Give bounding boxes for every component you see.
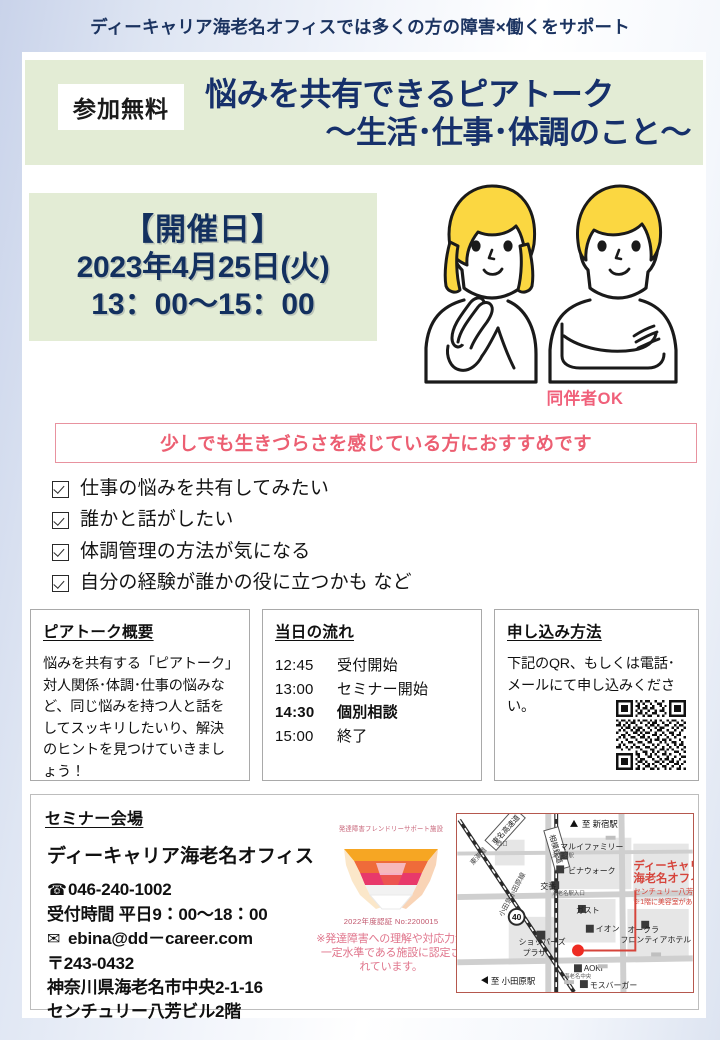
svg-text:イオン: イオン xyxy=(596,925,620,934)
svg-text:交番: 交番 xyxy=(540,881,556,891)
checklist: 仕事の悩みを共有してみたい 誰かと話がしたい 体調管理の方法が気になる 自分の経… xyxy=(52,476,672,602)
checklist-item-label: 誰かと話がしたい xyxy=(80,507,234,534)
svg-text:モスバーガー: モスバーガー xyxy=(590,980,638,990)
certification-note: ※発達障害への理解や対応力が一定水準である施設に認定されています。 xyxy=(316,932,466,974)
schedule-label: 個別相談 xyxy=(337,701,469,725)
venue-contact-block: ☎046-240-1002 受付時間 平日9：00～18：00 ✉ebina@d… xyxy=(47,878,347,1024)
certification-logo-icon xyxy=(336,835,446,915)
certification-heading: 発達障害フレンドリーサポート施設 xyxy=(319,823,463,833)
main-card: 参加無料 悩みを共有できるピアトーク ～生活･仕事･体調のこと～ 【開催日】 2… xyxy=(22,52,706,1018)
checkbox-checked-icon xyxy=(52,512,69,529)
certification-number: 2022年度認証 No:2200015 xyxy=(316,916,466,927)
date-value: 2023年4月25日(火) xyxy=(77,249,330,286)
info-box-schedule: 当日の流れ 12:45 受付開始 13:00 セミナー開始 14:30 個別相談… xyxy=(262,609,482,781)
info-box-row: ピアトーク概要 悩みを共有する「ピアトーク」対人関係･体調･仕事の悩みなど、同じ… xyxy=(22,609,706,784)
checklist-item: 仕事の悩みを共有してみたい xyxy=(52,476,672,503)
svg-text:40: 40 xyxy=(512,912,522,922)
checklist-item-label: 自分の経験が誰かの役に立つかも など xyxy=(80,570,412,597)
schedule-row: 12:45 受付開始 xyxy=(275,654,469,678)
people-illustration xyxy=(412,170,682,385)
venue-hours: 受付時間 平日9：00～18：00 xyxy=(47,903,347,927)
schedule-label: 受付開始 xyxy=(337,654,469,678)
checklist-item: 自分の経験が誰かの役に立つかも など xyxy=(52,570,672,597)
venue-address-line-1: 神奈川県海老名市中央2-1-16 xyxy=(47,976,347,1000)
recommend-banner: 少しでも生きづらさを感じている方におすすめです xyxy=(55,423,697,463)
title-band: 参加無料 悩みを共有できるピアトーク ～生活･仕事･体調のこと～ xyxy=(25,60,703,165)
svg-text:ビナウォーク: ビナウォーク xyxy=(568,866,615,875)
overview-body: 悩みを共有する「ピアトーク」対人関係･体調･仕事の悩みなど、同じ悩みを持つ人と話… xyxy=(43,654,237,783)
title-block: 悩みを共有できるピアトーク ～生活･仕事･体調のこと～ xyxy=(205,74,695,151)
title-line-2: ～生活･仕事･体調のこと～ xyxy=(205,114,695,151)
info-box-overview: ピアトーク概要 悩みを共有する「ピアトーク」対人関係･体調･仕事の悩みなど、同じ… xyxy=(30,609,250,781)
overview-title: ピアトーク概要 xyxy=(43,620,237,642)
schedule-time: 12:45 xyxy=(275,654,337,678)
svg-text:プラザ: プラザ xyxy=(523,948,547,957)
svg-text:海老名駅入口: 海老名駅入口 xyxy=(552,889,585,897)
flyer-page: ディーキャリア海老名オフィスでは多くの方の障害×働くをサポート 参加無料 悩みを… xyxy=(0,0,720,1040)
companion-ok-caption: 同伴者OK xyxy=(490,385,680,409)
venue-office-name: ディーキャリア海老名オフィス xyxy=(47,841,314,868)
certification-block: 発達障害フレンドリーサポート施設 2022年度認証 No:2200015 ※発達… xyxy=(316,823,466,1008)
svg-text:オークラ: オークラ xyxy=(627,926,659,935)
schedule-title: 当日の流れ xyxy=(275,620,469,642)
checklist-item-label: 体調管理の方法が気になる xyxy=(80,539,310,566)
svg-text:海老名駅: 海老名駅 xyxy=(552,852,574,860)
free-badge-label: 参加無料 xyxy=(73,90,169,124)
envelope-icon: ✉ xyxy=(47,929,68,952)
schedule-row: 13:00 セミナー開始 xyxy=(275,678,469,702)
svg-text:※1階に美容室があるビル: ※1階に美容室があるビル xyxy=(633,897,693,906)
schedule-label: 終了 xyxy=(337,725,469,749)
checkbox-checked-icon xyxy=(52,575,69,592)
time-value: 13：00～15：00 xyxy=(91,286,314,323)
svg-text:海老名オフィス: 海老名オフィス xyxy=(633,871,693,885)
svg-text:西口: 西口 xyxy=(497,841,508,848)
venue-email: ebina@dd－career.com xyxy=(68,929,253,948)
schedule-row: 15:00 終了 xyxy=(275,725,469,749)
venue-box: セミナー会場 ディーキャリア海老名オフィス ☎046-240-1002 受付時間… xyxy=(30,794,699,1010)
schedule-time: 14:30 xyxy=(275,701,337,725)
header-tagline: ディーキャリア海老名オフィスでは多くの方の障害×働くをサポート xyxy=(90,14,630,39)
title-line-1: 悩みを共有できるピアトーク xyxy=(205,74,695,114)
telephone-icon: ☎ xyxy=(47,880,68,903)
schedule-time: 15:00 xyxy=(275,725,337,749)
svg-text:マルイファミリー: マルイファミリー xyxy=(560,843,623,852)
svg-text:ディーキャリア: ディーキャリア xyxy=(633,858,693,872)
svg-text:センチュリー八芳2階: センチュリー八芳2階 xyxy=(633,886,693,896)
checklist-item: 体調管理の方法が気になる xyxy=(52,539,672,566)
checklist-item-label: 仕事の悩みを共有してみたい xyxy=(80,476,329,503)
venue-postal-code: 〒243-0432 xyxy=(47,952,347,976)
checkbox-checked-icon xyxy=(52,544,69,561)
svg-text:至 小田原駅: 至 小田原駅 xyxy=(491,976,536,986)
venue-title: セミナー会場 xyxy=(45,805,143,829)
schedule-row: 14:30 個別相談 xyxy=(275,701,469,725)
checklist-item: 誰かと話がしたい xyxy=(52,507,672,534)
svg-text:ショッパーズ: ショッパーズ xyxy=(519,937,566,947)
apply-title: 申し込み方法 xyxy=(507,620,686,642)
recommend-text: 少しでも生きづらさを感じている方におすすめです xyxy=(160,430,592,456)
location-map[interactable]: 東名高速道 相模鉄道 東海道 小田急小田原線 40 至 新宿駅 至 小田原駅 xyxy=(456,813,694,993)
date-label: 【開催日】 xyxy=(123,211,283,249)
schedule-label: セミナー開始 xyxy=(337,678,469,702)
venue-phone-number: 046-240-1002 xyxy=(68,880,171,899)
info-box-apply: 申し込み方法 下記のQR、もしくは電話･メールにて申し込みください。 xyxy=(494,609,699,781)
event-date-box: 【開催日】 2023年4月25日(火) 13：00～15：00 xyxy=(29,193,377,341)
free-participation-badge: 参加無料 xyxy=(58,84,184,130)
schedule-time: 13:00 xyxy=(275,678,337,702)
svg-text:海老名中央: 海老名中央 xyxy=(564,972,592,980)
qr-code-icon[interactable] xyxy=(616,700,686,770)
svg-text:至 新宿駅: 至 新宿駅 xyxy=(582,819,619,829)
venue-phone-line: ☎046-240-1002 xyxy=(47,878,347,903)
venue-address-line-2: センチュリー八芳ビル2階 xyxy=(47,1000,347,1024)
checkbox-checked-icon xyxy=(52,481,69,498)
svg-text:フロンティアホテル: フロンティアホテル xyxy=(620,936,691,945)
svg-text:ガスト: ガスト xyxy=(576,905,600,915)
venue-email-line: ✉ebina@dd－career.com xyxy=(47,927,347,952)
header-strip: ディーキャリア海老名オフィスでは多くの方の障害×働くをサポート xyxy=(0,0,720,52)
